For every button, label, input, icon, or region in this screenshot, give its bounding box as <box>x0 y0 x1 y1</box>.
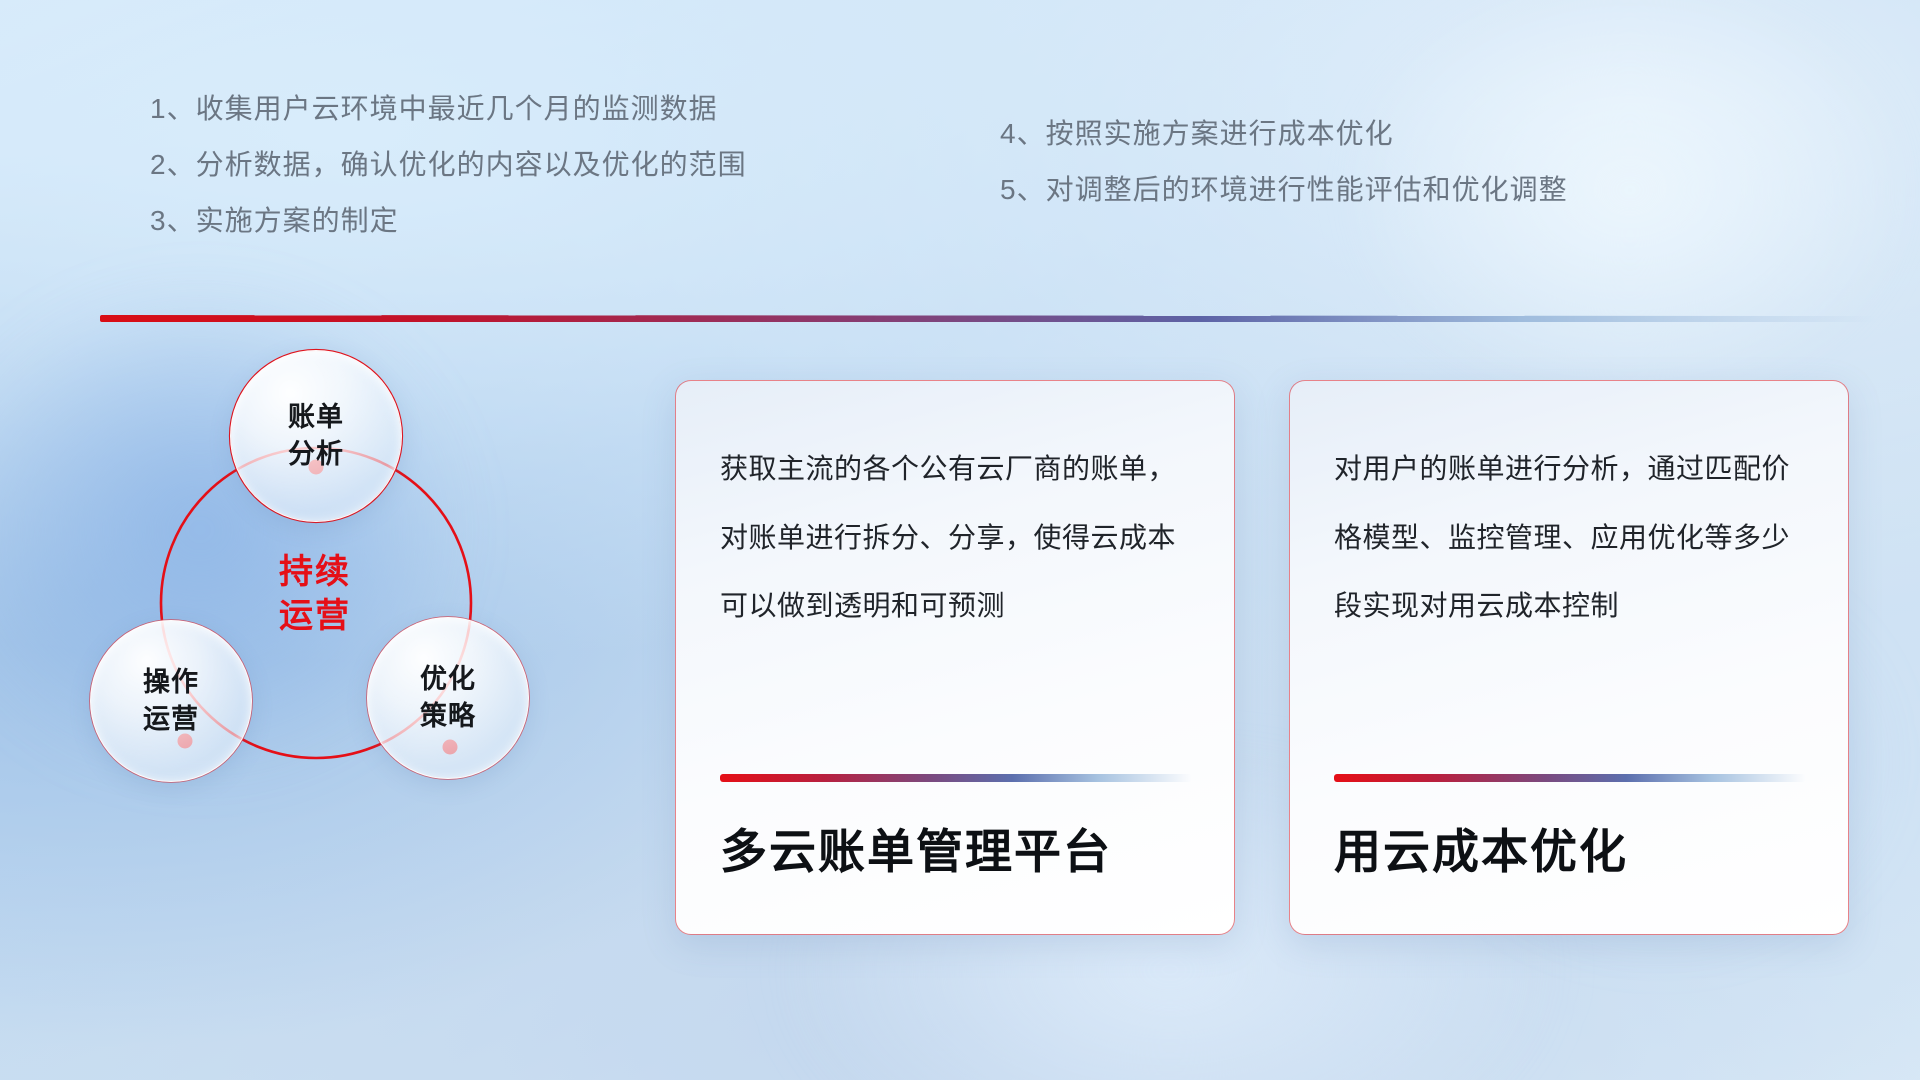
venn-node-operation-management-label: 操作 运营 <box>143 664 199 739</box>
optimization-strategy-line1: 优化 <box>420 664 476 694</box>
bill-analysis-line2: 分析 <box>288 439 344 469</box>
venn-node-optimization-strategy[interactable]: 优化 策略 <box>367 617 529 779</box>
venn-node-bill-analysis-label: 账单 分析 <box>288 399 344 474</box>
optimization-strategy-line2: 策略 <box>420 701 476 731</box>
venn-center-line1: 持续 <box>279 553 351 591</box>
process-step-5: 5、对调整后的环境进行性能评估和优化调整 <box>1000 176 1568 204</box>
bill-analysis-line1: 账单 <box>288 402 344 432</box>
card-1-divider <box>720 774 1192 782</box>
section-divider-rule <box>100 315 1875 322</box>
process-steps-left-column: 1、收集用户云环境中最近几个月的监测数据 2、分析数据，确认优化的内容以及优化的… <box>150 95 747 263</box>
card-2-title: 用云成本优化 <box>1334 813 1628 882</box>
venn-center-line2: 运营 <box>279 597 351 635</box>
venn-node-optimization-strategy-label: 优化 策略 <box>420 661 476 736</box>
venn-center-label: 持续 运营 <box>215 550 415 638</box>
process-steps-right-column: 4、按照实施方案进行成本优化 5、对调整后的环境进行性能评估和优化调整 <box>1000 120 1568 232</box>
card-multi-cloud-billing-platform[interactable]: 获取主流的各个公有云厂商的账单，对账单进行拆分、分享，使得云成本可以做到透明和可… <box>675 380 1235 935</box>
card-1-body: 获取主流的各个公有云厂商的账单，对账单进行拆分、分享，使得云成本可以做到透明和可… <box>720 435 1190 641</box>
venn-node-bill-analysis[interactable]: 账单 分析 <box>230 350 402 522</box>
process-step-4: 4、按照实施方案进行成本优化 <box>1000 120 1568 148</box>
process-step-2: 2、分析数据，确认优化的内容以及优化的范围 <box>150 151 747 179</box>
card-1-title: 多云账单管理平台 <box>720 813 1112 882</box>
operation-management-line1: 操作 <box>143 667 199 697</box>
venn-node-operation-management[interactable]: 操作 运营 <box>90 620 252 782</box>
continuous-operation-diagram: 账单 分析 操作 运营 优化 策略 持续 运营 <box>95 355 625 935</box>
process-step-1: 1、收集用户云环境中最近几个月的监测数据 <box>150 95 747 123</box>
card-2-body: 对用户的账单进行分析，通过匹配价格模型、监控管理、应用优化等多少段实现对用云成本… <box>1334 435 1804 641</box>
process-step-3: 3、实施方案的制定 <box>150 207 747 235</box>
card-2-divider <box>1334 774 1806 782</box>
operation-management-line2: 运营 <box>143 704 199 734</box>
card-cloud-cost-optimization[interactable]: 对用户的账单进行分析，通过匹配价格模型、监控管理、应用优化等多少段实现对用云成本… <box>1289 380 1849 935</box>
